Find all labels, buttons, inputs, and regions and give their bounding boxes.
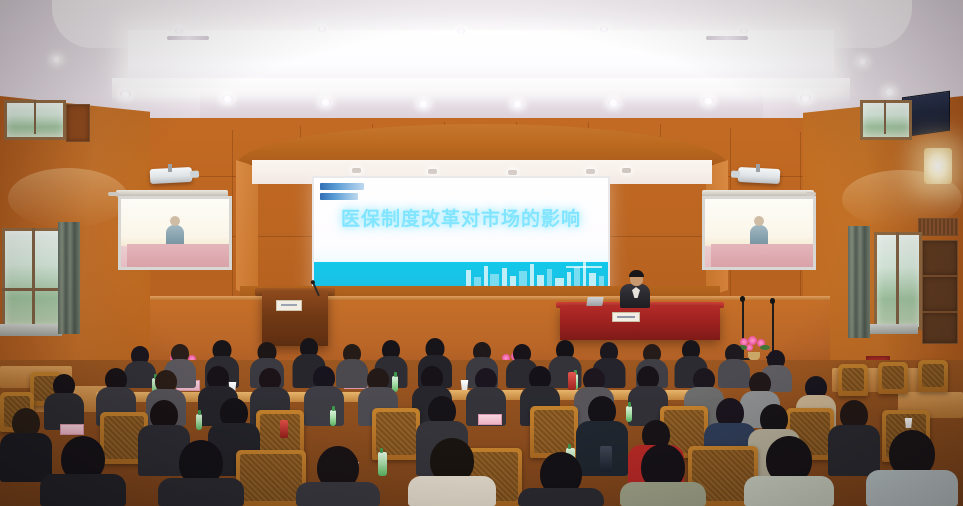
downlight-icon: [608, 99, 619, 107]
window-sill-left: [0, 324, 62, 336]
air-grille: [918, 218, 958, 236]
attendee: [866, 430, 958, 506]
name-card: [60, 424, 84, 435]
corporate-logo-icon: [320, 183, 364, 201]
head-table: [560, 306, 720, 340]
wall-recess-left: [66, 104, 90, 142]
name-card: [478, 414, 502, 425]
downlight-icon: [52, 56, 61, 63]
lectern-sign: [276, 300, 302, 311]
downlight-icon: [800, 94, 811, 102]
soffit-downlight-icon: [508, 170, 517, 175]
soffit-downlight-icon: [352, 168, 361, 173]
attendee: [304, 366, 344, 426]
presenter-nameplate: [612, 312, 640, 322]
curtain-left: [58, 222, 80, 334]
soffit-downlight-icon: [586, 169, 595, 174]
window-mullion: [884, 100, 886, 134]
window-mullion: [32, 228, 35, 324]
soffit-downlight-icon: [428, 169, 437, 174]
downlight-icon: [512, 100, 523, 108]
right-projection-screen: [702, 196, 816, 270]
acoustic-panel: [922, 276, 958, 312]
downlight-icon: [884, 88, 895, 96]
window-mullion: [896, 232, 899, 324]
feed-table: [711, 244, 813, 267]
attendee: [40, 436, 126, 506]
downlight-icon: [740, 28, 748, 34]
camera-feed-left: [121, 199, 229, 267]
attendee: [158, 440, 244, 506]
laptop-icon: [586, 297, 604, 306]
downlight-icon: [320, 98, 331, 106]
downlight-icon: [120, 90, 131, 98]
downlight-icon: [418, 100, 429, 108]
downlight-icon: [457, 28, 465, 34]
water-bottle: [196, 414, 202, 430]
clerestory-window-right: [860, 100, 912, 140]
downlight-icon: [600, 26, 608, 32]
attendee: [744, 436, 834, 506]
acoustic-panel: [922, 312, 958, 344]
downlight-icon: [858, 58, 867, 65]
soffit-downlight-icon: [622, 168, 631, 173]
conference-hall-photo: 医保制度改革对市场的影响: [0, 0, 963, 506]
ceiling-strip-light: [167, 36, 209, 40]
feed-table: [127, 244, 229, 267]
projector-mount: [756, 164, 760, 172]
chair: [918, 360, 948, 392]
acoustic-panel: [922, 240, 958, 276]
window-mullion: [2, 288, 60, 291]
left-projection-screen: [118, 196, 232, 270]
window-sill-right: [870, 324, 918, 334]
wall-panel-seam: [232, 130, 233, 310]
camera-feed-right: [705, 199, 813, 267]
attendee: [620, 444, 706, 506]
downlight-icon: [318, 26, 326, 32]
ceiling-strip-light: [706, 36, 748, 40]
downlight-icon: [222, 95, 233, 103]
attendee: [518, 452, 604, 506]
curtain-right: [848, 226, 870, 338]
chair: [838, 364, 868, 396]
chair: [878, 362, 908, 394]
projector-mount: [168, 164, 172, 172]
slide-accent-rule: [566, 266, 602, 268]
slide-title: 医保制度改革对市场的影响: [314, 204, 608, 231]
attendee: [296, 446, 380, 506]
wall-sconce-light: [924, 148, 952, 184]
downlight-icon: [175, 28, 183, 34]
presenter-hair: [629, 270, 644, 277]
screen-roller-arm-left: [108, 192, 118, 196]
window-mullion: [34, 100, 36, 134]
attendee: [408, 438, 496, 506]
water-bottle: [330, 410, 336, 426]
downlight-icon: [703, 97, 714, 105]
thermos: [280, 420, 288, 438]
